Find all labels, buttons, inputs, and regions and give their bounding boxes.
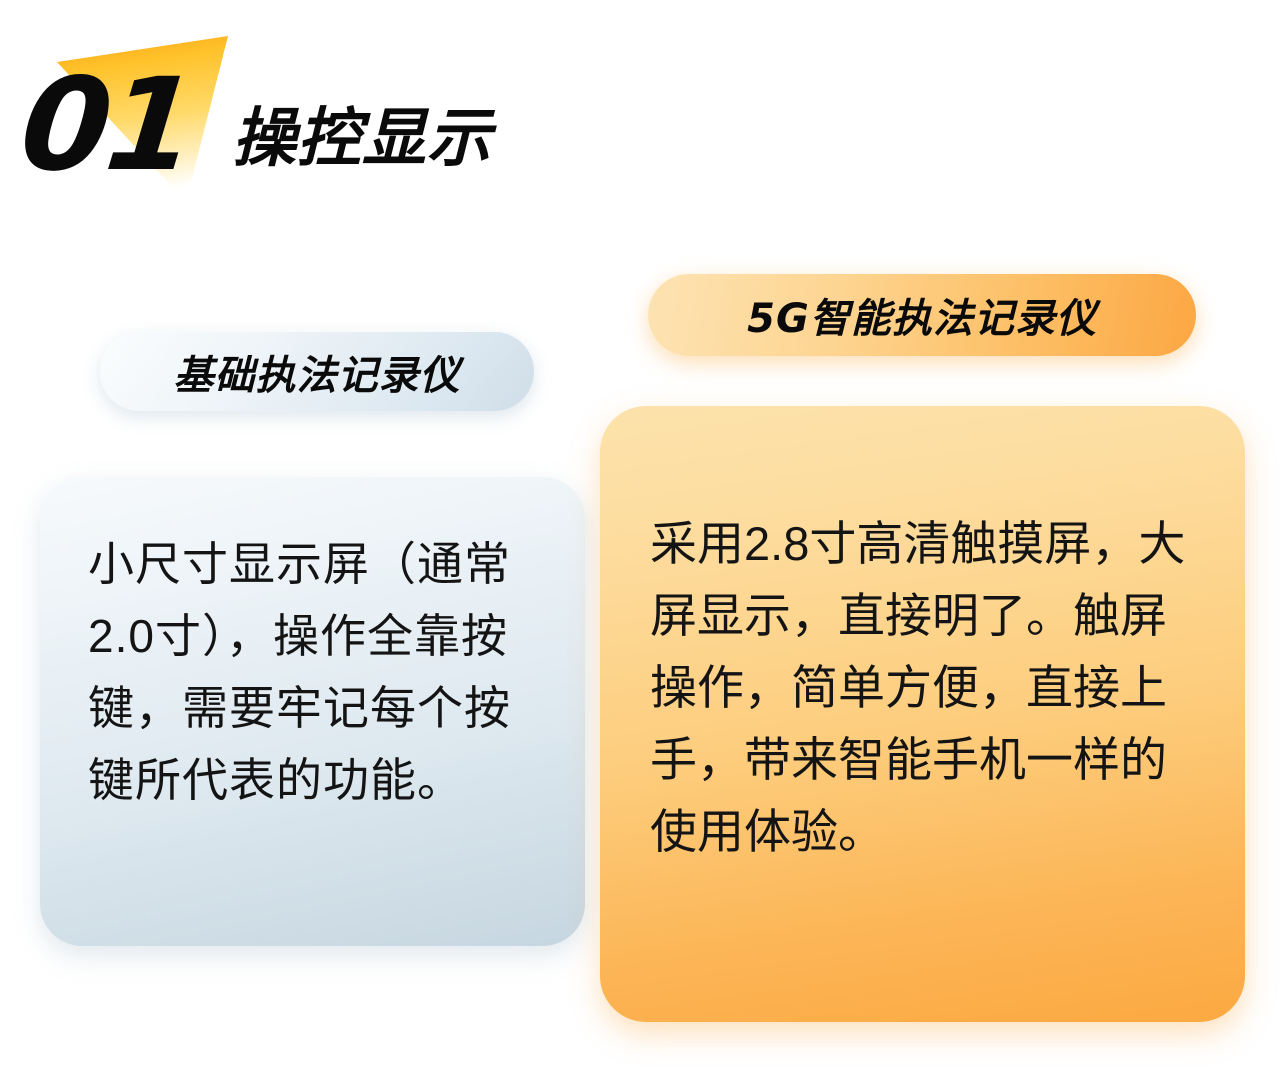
section-header: 01 操控显示: [0, 0, 1280, 230]
badge-5g-label: 5G智能执法记录仪: [747, 286, 1097, 344]
card-5g-recorder: 采用2.8寸高清触摸屏，大屏显示，直接明了。触屏操作，简单方便，直接上手，带来智…: [600, 406, 1245, 1022]
card-basic-body-text: 小尺寸显示屏（通常2.0寸），操作全靠按键，需要牢记每个按键所代表的功能。: [88, 528, 538, 816]
step-number: 01: [15, 62, 199, 190]
badge-basic-label: 基础执法记录仪: [174, 343, 461, 401]
badge-5g-recorder: 5G智能执法记录仪: [648, 274, 1196, 356]
badge-basic-recorder: 基础执法记录仪: [100, 332, 534, 411]
card-5g-body-text: 采用2.8寸高清触摸屏，大屏显示，直接明了。触屏操作，简单方便，直接上手，带来智…: [650, 508, 1202, 868]
card-basic-recorder: 小尺寸显示屏（通常2.0寸），操作全靠按键，需要牢记每个按键所代表的功能。: [40, 477, 585, 946]
section-title: 操控显示: [232, 101, 492, 178]
